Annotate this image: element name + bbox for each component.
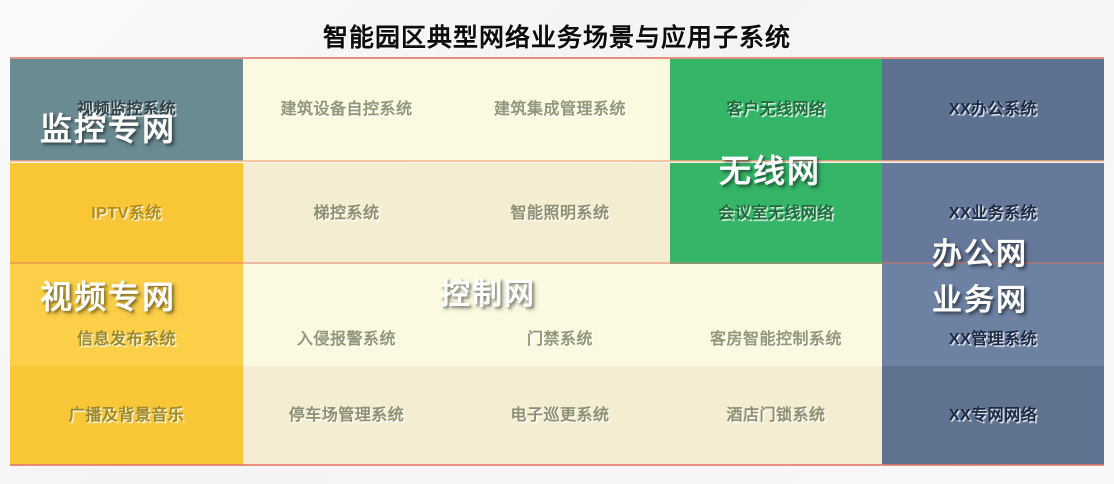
matrix-cell[interactable]: 酒店门锁系统: [670, 366, 882, 465]
matrix-cell[interactable]: 门禁系统: [450, 264, 670, 366]
matrix-cell[interactable]: XX办公系统: [882, 59, 1104, 161]
matrix-cell[interactable]: 建筑设备自控系统: [243, 59, 450, 161]
matrix-cell[interactable]: 入侵报警系统: [243, 264, 450, 366]
matrix-cell-label: 酒店门锁系统: [726, 406, 825, 425]
matrix-cell-label: 视频监控系统: [77, 100, 176, 119]
matrix-cell-label: 广播及背景音乐: [69, 406, 185, 425]
matrix-cell-label: 入侵报警系统: [297, 330, 396, 349]
matrix-cell[interactable]: 停车场管理系统: [243, 366, 450, 465]
matrix-cell[interactable]: 视频监控系统: [10, 59, 243, 161]
matrix-cell-label: 客户无线网络: [726, 100, 825, 119]
matrix-cell[interactable]: 会议室无线网络: [670, 163, 882, 264]
matrix-cell-label: 电子巡更系统: [510, 406, 609, 425]
matrix-cell[interactable]: 客房智能控制系统: [670, 264, 882, 366]
matrix-cell-label: IPTV系统: [91, 204, 162, 223]
matrix-cell[interactable]: 信息发布系统: [10, 264, 243, 366]
matrix-cell[interactable]: 梯控系统: [243, 163, 450, 264]
matrix-cell-label: XX办公系统: [949, 100, 1037, 119]
matrix-cell[interactable]: 广播及背景音乐: [10, 366, 243, 465]
matrix-cell-label: 客房智能控制系统: [710, 330, 842, 349]
matrix-cell[interactable]: IPTV系统: [10, 163, 243, 264]
slide-canvas: 智能园区典型网络业务场景与应用子系统 视频监控系统 建筑设备自控系统 建筑集成管…: [0, 0, 1114, 484]
matrix-cell-label: 信息发布系统: [77, 330, 176, 349]
matrix-cell-label: XX管理系统: [949, 330, 1037, 349]
matrix-cell-label: 智能照明系统: [510, 204, 609, 223]
matrix-cell[interactable]: XX业务系统: [882, 163, 1104, 264]
matrix-cell[interactable]: XX专网网络: [882, 366, 1104, 465]
matrix-cell-label: 停车场管理系统: [289, 406, 405, 425]
matrix-cell[interactable]: 建筑集成管理系统: [450, 59, 670, 161]
matrix-cell-label: 梯控系统: [313, 204, 379, 223]
matrix-cell[interactable]: XX管理系统: [882, 264, 1104, 366]
matrix-cell-label: 建筑设备自控系统: [280, 100, 412, 119]
matrix-cell-label: XX业务系统: [949, 204, 1037, 223]
matrix-cell-label: 会议室无线网络: [718, 204, 834, 223]
page-title-text: 智能园区典型网络业务场景与应用子系统: [323, 18, 791, 54]
network-scenario-matrix: 视频监控系统 建筑设备自控系统 建筑集成管理系统 客户无线网络 XX办公系统 I…: [10, 59, 1104, 465]
matrix-cell-label: XX专网网络: [949, 406, 1037, 425]
matrix-cell[interactable]: 电子巡更系统: [450, 366, 670, 465]
matrix-cell[interactable]: 智能照明系统: [450, 163, 670, 264]
matrix-cell-label: 建筑集成管理系统: [494, 100, 626, 119]
page-title: 智能园区典型网络业务场景与应用子系统: [0, 18, 1114, 54]
matrix-cell[interactable]: 客户无线网络: [670, 59, 882, 161]
matrix-cell-label: 门禁系统: [527, 330, 593, 349]
